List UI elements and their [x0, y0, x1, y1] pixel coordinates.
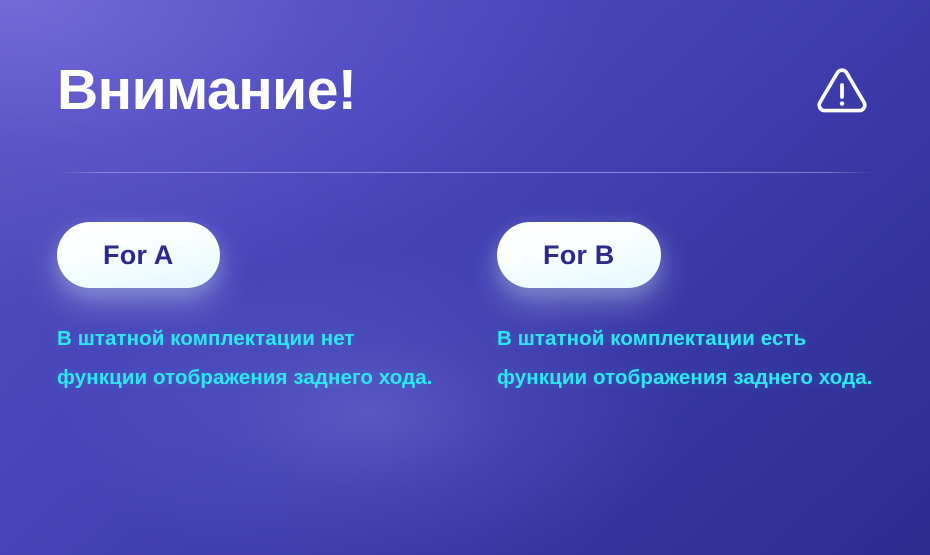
- header-divider: [57, 172, 875, 173]
- for-a-button[interactable]: For A: [57, 222, 220, 288]
- column-for-a: For A В штатной комплектации нет функции…: [57, 222, 437, 397]
- warning-slide: Внимание! For A В штатной комплектации н…: [0, 0, 930, 555]
- slide-header: Внимание!: [57, 50, 875, 130]
- column-for-b: For B В штатной комплектации есть функци…: [497, 222, 877, 397]
- comparison-columns: For A В штатной комплектации нет функции…: [57, 222, 877, 397]
- for-b-description: В штатной комплектации есть функции отоб…: [497, 288, 879, 397]
- for-a-description: В штатной комплектации нет функции отобр…: [57, 288, 439, 397]
- for-b-button[interactable]: For B: [497, 222, 661, 288]
- warning-triangle-icon: [815, 63, 869, 117]
- page-title: Внимание!: [57, 62, 356, 119]
- slide-content: Внимание! For A В штатной комплектации н…: [0, 0, 930, 555]
